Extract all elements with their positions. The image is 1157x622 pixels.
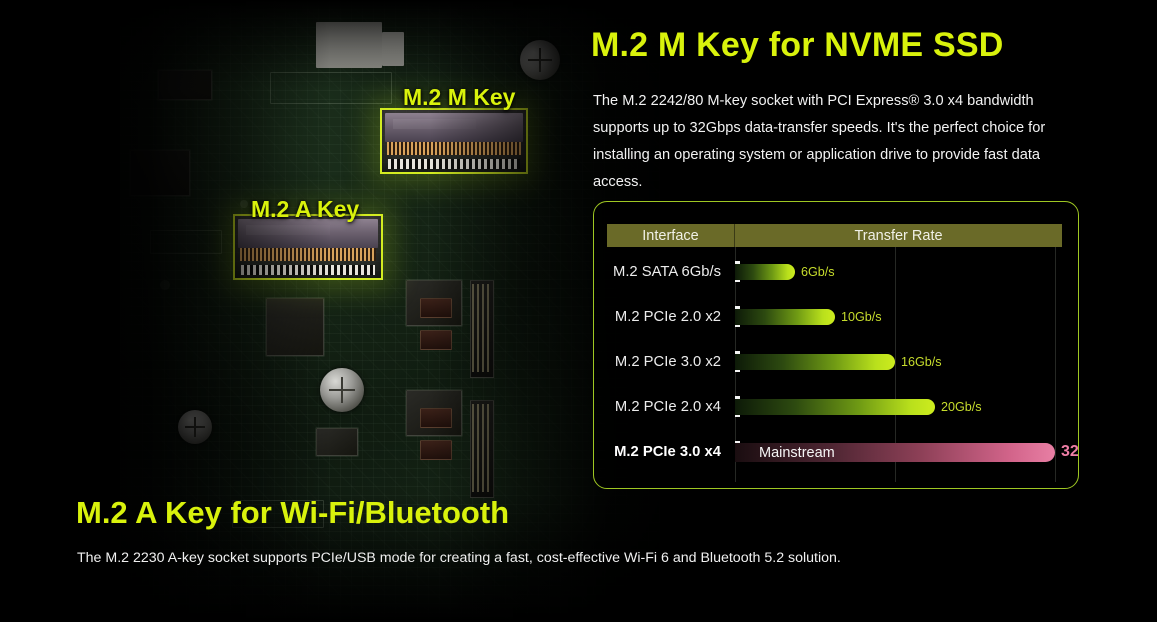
chart-row: M.2 PCIe 2.0 x420Gb/s — [594, 389, 1078, 424]
chart-row-value-label: 20Gb/s — [941, 400, 982, 414]
sub-headline: M.2 A Key for Wi-Fi/Bluetooth — [76, 495, 509, 531]
callout-label-a-key: M.2 A Key — [251, 196, 359, 223]
chart-header-row: Interface Transfer Rate — [607, 224, 1062, 247]
right-content-column: M.2 M Key for NVME SSD The M.2 2242/80 M… — [591, 0, 1157, 622]
chart-row-bar — [735, 354, 895, 370]
chart-row-interface-label: M.2 PCIe 3.0 x4 — [594, 434, 730, 469]
chart-row: M.2 PCIe 2.0 x210Gb/s — [594, 299, 1078, 334]
chart-row: M.2 PCIe 3.0 x216Gb/s — [594, 344, 1078, 379]
chart-row-value-label: 16Gb/s — [901, 355, 942, 369]
chart-row-interface-label: M.2 PCIe 2.0 x4 — [594, 389, 730, 424]
chart-row-interface-label: M.2 PCIe 2.0 x2 — [594, 299, 730, 334]
sub-description: The M.2 2230 A-key socket supports PCIe/… — [77, 550, 841, 566]
chart-row-value-label: 10Gb/s — [841, 310, 882, 324]
transfer-rate-chart-panel: Interface Transfer Rate M.2 SATA 6Gb/s6G… — [593, 201, 1079, 489]
chart-row-value-label: 32Gb/s — [1061, 443, 1079, 461]
chart-row-value-label: 6Gb/s — [801, 265, 835, 279]
chart-row: M.2 PCIe 3.0 x4Mainstream32Gb/s — [594, 434, 1078, 469]
chart-row-bar-annotation: Mainstream — [759, 445, 835, 461]
chart-row-bar: Mainstream — [735, 443, 1055, 462]
chart-row-interface-label: M.2 SATA 6Gb/s — [594, 254, 730, 289]
main-headline: M.2 M Key for NVME SSD — [591, 26, 1003, 65]
chart-header-interface: Interface — [607, 224, 735, 247]
chart-row: M.2 SATA 6Gb/s6Gb/s — [594, 254, 1078, 289]
chart-row-bar — [735, 264, 795, 280]
chart-row-interface-label: M.2 PCIe 3.0 x2 — [594, 344, 730, 379]
chart-rows: M.2 SATA 6Gb/s6Gb/sM.2 PCIe 2.0 x210Gb/s… — [594, 254, 1078, 479]
callout-label-m-key: M.2 M Key — [403, 84, 515, 111]
chart-row-bar — [735, 399, 935, 415]
chart-header-transfer-rate: Transfer Rate — [735, 224, 1062, 247]
chart-row-bar — [735, 309, 835, 325]
main-description: The M.2 2242/80 M-key socket with PCI Ex… — [593, 88, 1075, 196]
